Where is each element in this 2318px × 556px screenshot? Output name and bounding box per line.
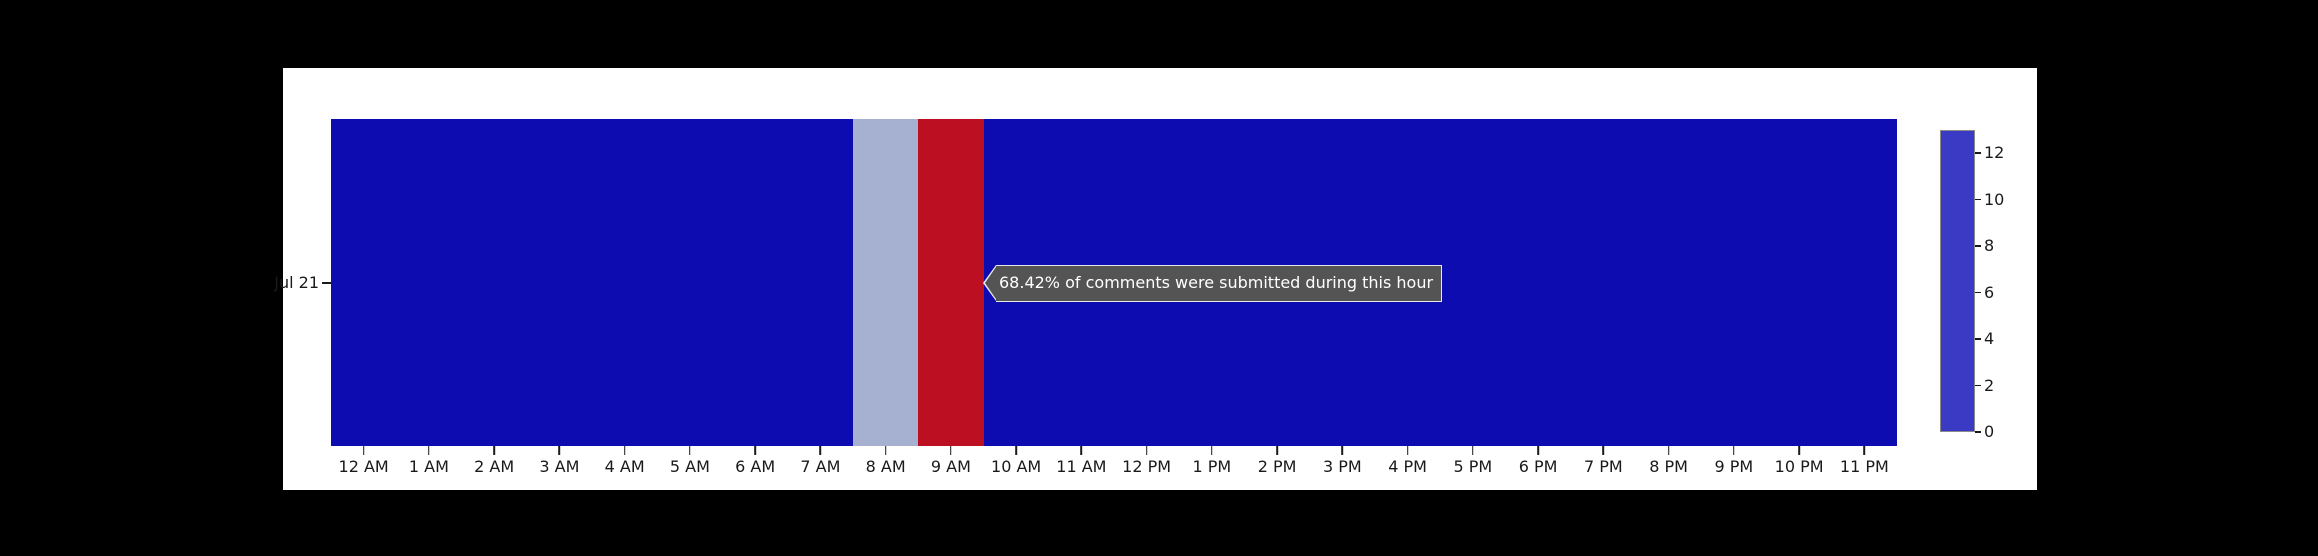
x-axis-tick-mark [363,446,365,455]
x-axis-tick-labels: 12 AM1 AM2 AM3 AM4 AM5 AM6 AM7 AM8 AM9 A… [331,457,1897,477]
x-axis-tick-mark [1276,446,1278,455]
x-axis-tick-mark [1537,446,1539,455]
colorbar[interactable]: 024681012 [1940,130,1975,432]
x-axis-tick-label: 12 AM [331,457,396,477]
x-axis-tick [462,446,527,455]
x-axis-tick-label: 10 AM [984,457,1049,477]
x-axis-tick [853,446,918,455]
heatmap-cell[interactable] [331,119,396,446]
x-axis-tick-label: 1 AM [396,457,461,477]
x-axis-tick-label: 2 PM [1245,457,1310,477]
x-axis-tick [1832,446,1897,455]
x-axis-tick [592,446,657,455]
heatmap-cell[interactable] [1832,119,1897,446]
heatmap-cell[interactable] [527,119,592,446]
x-axis-tick-mark [1603,446,1605,455]
x-axis-tick-label: 8 AM [853,457,918,477]
x-axis-tick-label: 10 PM [1767,457,1832,477]
x-axis-tick [1310,446,1375,455]
tooltip-text: 68.42% of comments were submitted during… [996,265,1442,302]
y-axis-tick-label-jul-21: Jul 21 [189,272,319,294]
heatmap-cell[interactable] [723,119,788,446]
colorbar-tick-mark [1975,431,1981,433]
x-axis-tick-mark [1081,446,1083,455]
x-axis-tick [1049,446,1114,455]
x-axis-tick-mark [1668,446,1670,455]
x-axis-tick-mark [1733,446,1735,455]
x-axis-tick-mark [559,446,561,455]
x-axis-tick-mark [885,446,887,455]
x-axis-tick-label: 7 AM [788,457,853,477]
x-axis-tick [1179,446,1244,455]
x-axis: 12 AM1 AM2 AM3 AM4 AM5 AM6 AM7 AM8 AM9 A… [331,446,1897,490]
heatmap-cell[interactable] [788,119,853,446]
colorbar-tick-mark [1975,385,1981,387]
colorbar-tick-label: 6 [1984,282,1994,304]
x-axis-tick-label: 6 PM [1506,457,1571,477]
x-axis-tick [1440,446,1505,455]
colorbar-tick-mark [1975,338,1981,340]
x-axis-tick-mark [1211,446,1213,455]
x-axis-tick-mark [1798,446,1800,455]
x-axis-tick-label: 9 AM [918,457,983,477]
colorbar-tick-label: 2 [1984,375,1994,397]
x-axis-tick-label: 6 AM [723,457,788,477]
heatmap-cell[interactable] [462,119,527,446]
heatmap-cell[interactable] [853,119,918,446]
x-axis-tick-marks [331,446,1897,455]
tooltip-arrow-icon [983,265,996,302]
colorbar-tick-label: 8 [1984,235,1994,257]
x-axis-tick [984,446,1049,455]
heatmap-cell[interactable] [592,119,657,446]
x-axis-tick [1767,446,1832,455]
colorbar-tick-label: 10 [1984,189,2004,211]
heatmap-cell[interactable] [1701,119,1766,446]
x-axis-tick [396,446,461,455]
x-axis-tick [788,446,853,455]
x-axis-tick-mark [1472,446,1474,455]
x-axis-tick-mark [1015,446,1017,455]
x-axis-tick-label: 5 AM [657,457,722,477]
x-axis-tick [918,446,983,455]
x-axis-tick-mark [428,446,430,455]
colorbar-gradient [1940,130,1975,432]
heatmap-cell[interactable] [396,119,461,446]
colorbar-tick-labels: 024681012 [1975,130,2035,432]
heatmap-cell[interactable] [657,119,722,446]
x-axis-tick [1506,446,1571,455]
x-axis-tick-label: 12 PM [1114,457,1179,477]
x-axis-tick-label: 1 PM [1179,457,1244,477]
heatmap-cell[interactable] [1506,119,1571,446]
x-axis-tick-mark [1407,446,1409,455]
x-axis-tick-label: 4 AM [592,457,657,477]
x-axis-tick [1636,446,1701,455]
x-axis-tick-mark [820,446,822,455]
colorbar-tick-mark [1975,152,1981,154]
x-axis-tick-mark [493,446,495,455]
heatmap-tooltip: 68.42% of comments were submitted during… [983,265,1442,302]
x-axis-tick-mark [950,446,952,455]
x-axis-tick [1701,446,1766,455]
x-axis-tick-label: 9 PM [1701,457,1766,477]
heatmap-cell[interactable] [1440,119,1505,446]
colorbar-tick-label: 12 [1984,142,2004,164]
x-axis-tick-mark [624,446,626,455]
x-axis-tick-label: 4 PM [1375,457,1440,477]
x-axis-tick-mark [1342,446,1344,455]
x-axis-tick-mark [1146,446,1148,455]
x-axis-tick-label: 8 PM [1636,457,1701,477]
heatmap-cell[interactable] [1767,119,1832,446]
heatmap-cell[interactable] [918,119,983,446]
x-axis-tick [331,446,396,455]
x-axis-tick [723,446,788,455]
x-axis-tick-label: 11 AM [1049,457,1114,477]
x-axis-tick-label: 11 PM [1832,457,1897,477]
heatmap-cell[interactable] [1636,119,1701,446]
colorbar-tick-mark [1975,292,1981,294]
x-axis-tick-label: 3 PM [1310,457,1375,477]
colorbar-tick-label: 0 [1984,421,1994,443]
x-axis-tick [657,446,722,455]
heatmap-cell[interactable] [1571,119,1636,446]
x-axis-tick [1245,446,1310,455]
colorbar-tick-label: 4 [1984,328,1994,350]
x-axis-tick-label: 3 AM [527,457,592,477]
x-axis-tick [527,446,592,455]
x-axis-tick [1571,446,1636,455]
x-axis-tick-label: 2 AM [462,457,527,477]
colorbar-tick-mark [1975,245,1981,247]
x-axis-tick-label: 7 PM [1571,457,1636,477]
x-axis-tick [1375,446,1440,455]
colorbar-tick-mark [1975,199,1981,201]
x-axis-tick-mark [754,446,756,455]
x-axis-tick [1114,446,1179,455]
y-axis-tick-mark [322,282,331,284]
x-axis-tick-mark [689,446,691,455]
x-axis-tick-label: 5 PM [1440,457,1505,477]
x-axis-tick-mark [1864,446,1866,455]
